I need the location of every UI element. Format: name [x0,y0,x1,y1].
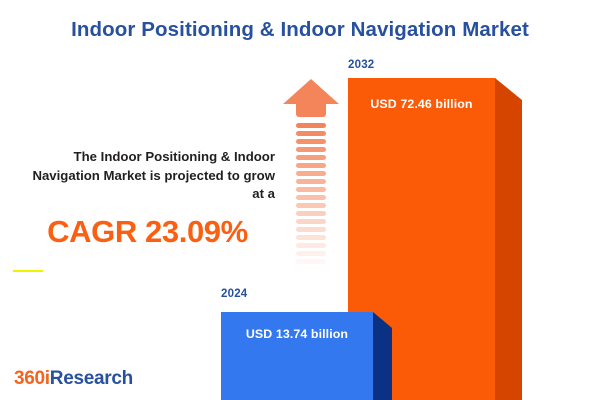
bar-2024-face [221,312,373,400]
arrow-shaft-segment [296,267,326,272]
arrow-shaft-segment [296,219,326,224]
bar-value-2024: USD 13.74 billion [221,327,373,341]
arrow-shaft-segment [296,251,326,256]
arrow-shaft-segment [296,211,326,216]
arrow-shaft-segment [296,171,326,176]
arrow-shaft-segment [296,163,326,168]
arrow-shaft-segment [296,179,326,184]
cagr-value: CAGR 23.09% [20,214,275,250]
brand-logo-research: Research [50,368,133,389]
bar-value-2032: USD 72.46 billion [348,97,495,111]
arrow-shaft-segment [296,235,326,240]
arrow-shaft-segment [296,243,326,248]
brand-logo: 360iResearch [14,368,133,390]
bar-2032-side-face [495,78,522,400]
arrow-shaft-segment [296,203,326,208]
arrow-shaft-segment [296,259,326,264]
arrow-shaft-segment [296,139,326,144]
arrow-shaft-segment [296,131,326,136]
arrow-shaft-segment [296,227,326,232]
upward-growth-arrow-icon [283,79,339,301]
arrow-accent-line [13,270,43,272]
bar-label-2032: 2032 [348,59,374,71]
arrow-shaft [296,123,326,301]
arrow-shaft-segment [296,195,326,200]
arrow-head-triangle [283,79,339,104]
arrow-shaft-segment [296,187,326,192]
arrow-head-neck [296,103,326,117]
arrow-shaft-segment [296,155,326,160]
arrow-shaft-segment [296,275,326,280]
bar-label-2024: 2024 [221,288,247,300]
page-title: Indoor Positioning & Indoor Navigation M… [0,18,600,42]
narrative-text: The Indoor Positioning & Indoor Navigati… [20,148,275,204]
brand-logo-360i: 360i [14,368,50,389]
arrow-head [283,79,339,114]
market-infographic: Indoor Positioning & Indoor Navigation M… [0,0,600,400]
narrative-block: The Indoor Positioning & Indoor Navigati… [20,148,275,250]
arrow-shaft-segment [296,123,326,128]
arrow-shaft-segment [296,147,326,152]
